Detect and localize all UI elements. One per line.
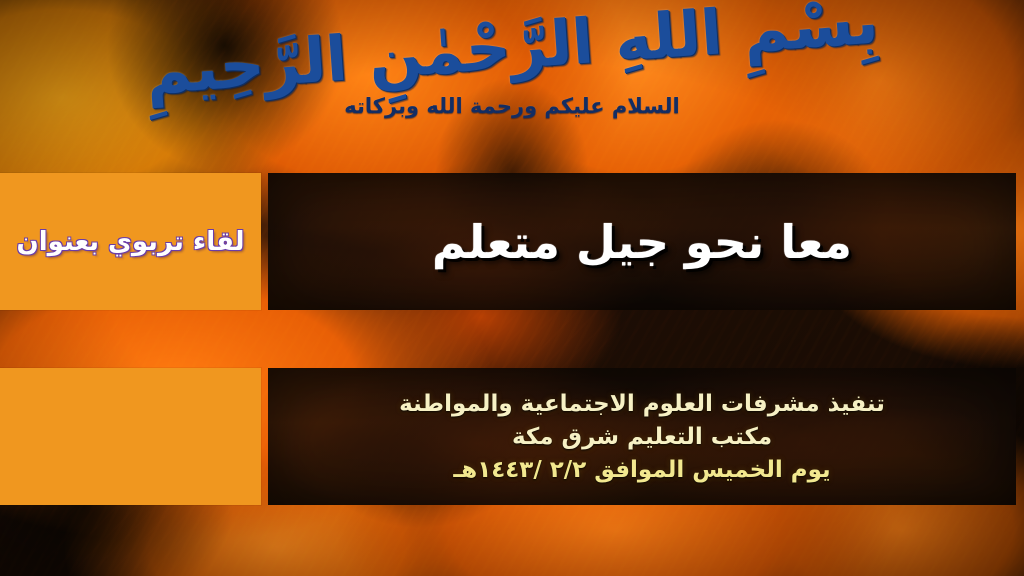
empty-orange-box — [0, 368, 261, 505]
detail-line-office: مكتب التعليم شرق مكة — [512, 424, 772, 450]
subtitle-orange-box: لقاء تربوي بعنوان — [0, 173, 261, 310]
detail-line-date: يوم الخميس الموافق ٢/٢ /١٤٤٣هـ — [453, 457, 830, 483]
poster-canvas: بِسْمِ اللهِ الرَّحْمٰنِ الرَّحِيمِ السل… — [0, 0, 1024, 576]
subtitle-label: لقاء تربوي بعنوان — [17, 227, 245, 257]
details-banner: تنفيذ مشرفات العلوم الاجتماعية والمواطنة… — [268, 368, 1016, 505]
title-banner: معا نحو جيل متعلم — [268, 173, 1016, 310]
detail-line-organizer: تنفيذ مشرفات العلوم الاجتماعية والمواطنة — [399, 391, 885, 417]
main-title: معا نحو جيل متعلم — [432, 215, 852, 269]
